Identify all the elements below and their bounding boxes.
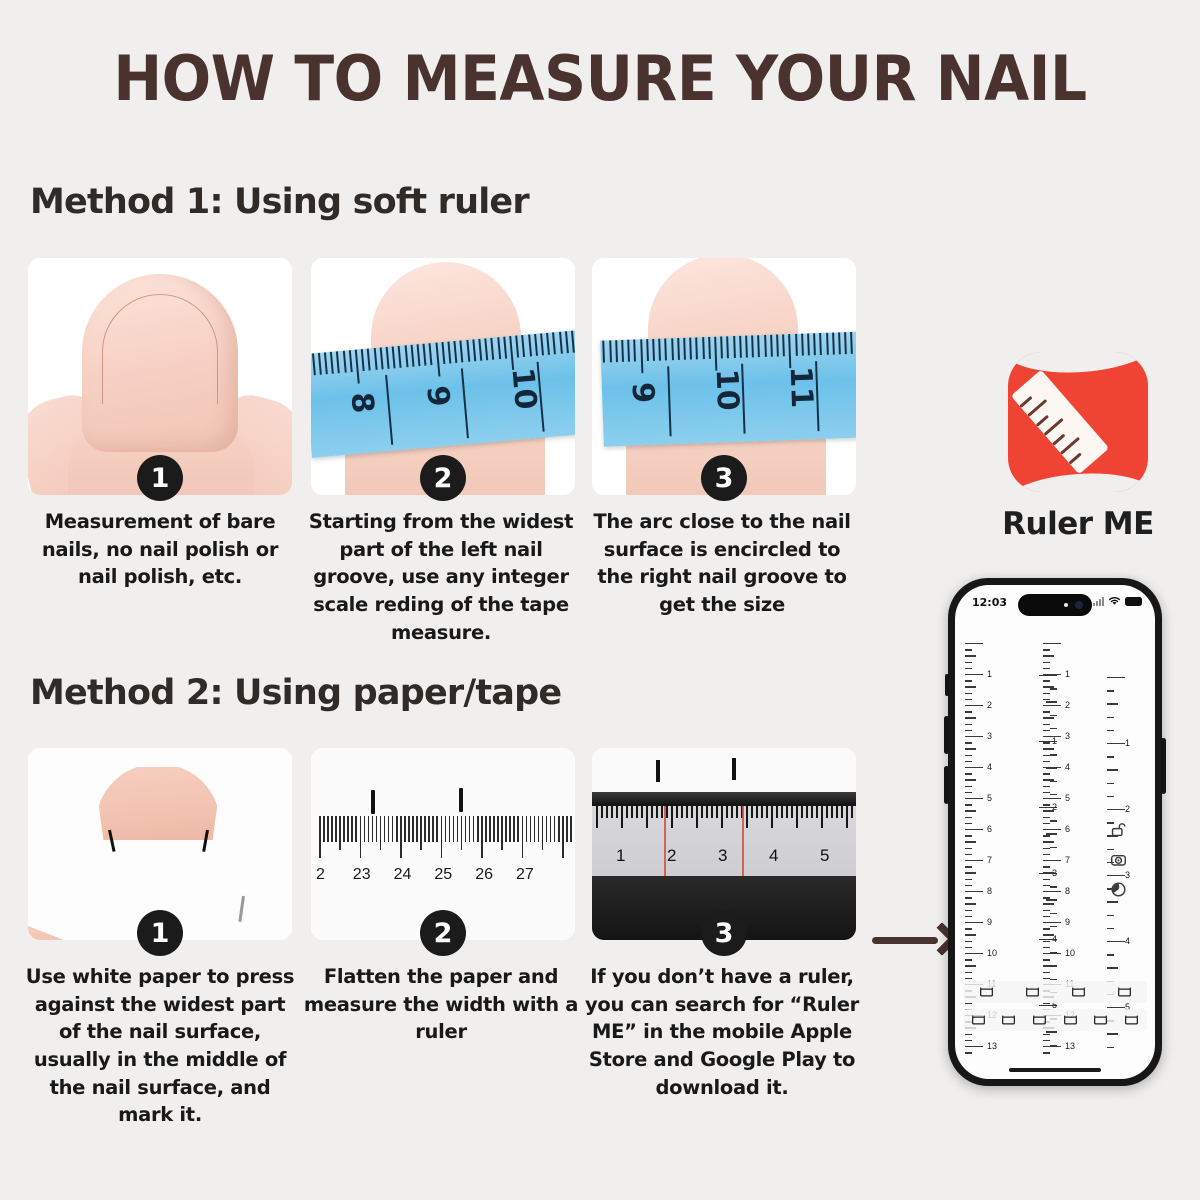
status-bar-indicators [1093,596,1142,606]
step-badge-3: 3 [701,455,747,501]
contrast-icon[interactable] [1110,881,1127,898]
ruler-tool-icon[interactable] [1063,1015,1078,1026]
ruler-tool-icon[interactable] [1032,1015,1047,1026]
ruler-app-icon[interactable] [1008,352,1148,492]
power-button[interactable] [1161,738,1166,794]
ruler-tool-icon[interactable] [1117,987,1132,998]
phone-tool-icons [1110,821,1127,898]
dynamic-island [1018,594,1092,616]
step-caption-5: Flatten the paper and measure the width … [303,963,579,1046]
toolbar-row-1[interactable] [963,981,1147,1003]
ruler-tool-icon[interactable] [1093,1015,1108,1026]
tape-measure-graphic-2: 91011 [600,331,856,446]
step-badge-1: 1 [137,455,183,501]
ruler-tool-icon[interactable] [979,987,994,998]
ruler-glyph [1011,370,1109,475]
step-caption-4: Use white paper to press against the wid… [22,963,298,1129]
infographic-page: HOW TO MEASURE YOUR NAIL Method 1: Using… [0,0,1200,1200]
unlock-icon[interactable] [1110,821,1127,838]
phone-mockup: 12345678910111213 12345678910111213 1234… [948,578,1162,1086]
app-name-label: Ruler ME [988,506,1168,542]
method-1-heading: Method 1: Using soft ruler [30,182,529,222]
method-2-heading: Method 2: Using paper/tape [30,673,561,713]
cellular-signal-icon [1093,597,1104,606]
camera-icon[interactable] [1110,851,1127,868]
app-promo: Ruler ME [988,352,1168,542]
step-caption-3: The arc close to the nail surface is enc… [584,508,860,619]
step-badge-2: 2 [420,455,466,501]
ruler-tool-icon[interactable] [1071,987,1086,998]
step-badge-5: 2 [420,910,466,956]
home-indicator[interactable] [1009,1068,1101,1072]
step-caption-1: Measurement of bare nails, no nail polis… [22,508,298,591]
volume-down-button[interactable] [944,766,949,804]
battery-icon [1125,597,1142,606]
ruler-tool-icon[interactable] [1001,1015,1016,1026]
volume-up-button[interactable] [944,716,949,754]
ruler-tool-icon[interactable] [1025,987,1040,998]
ruler-tool-icon[interactable] [971,1015,986,1026]
step-badge-4: 1 [137,910,183,956]
status-bar-time: 12:03 [972,596,1007,609]
wifi-icon [1108,596,1121,606]
step-caption-2: Starting from the widest part of the lef… [303,508,579,646]
mute-switch[interactable] [945,674,949,696]
ruler-tool-icon[interactable] [1124,1015,1139,1026]
step-caption-6: If you don’t have a ruler, you can searc… [584,963,860,1101]
phone-screen: 12345678910111213 12345678910111213 1234… [955,585,1155,1079]
toolbar-row-2[interactable] [963,1009,1147,1031]
page-title: HOW TO MEASURE YOUR NAIL [36,42,1164,115]
step-badge-6: 3 [701,910,747,956]
